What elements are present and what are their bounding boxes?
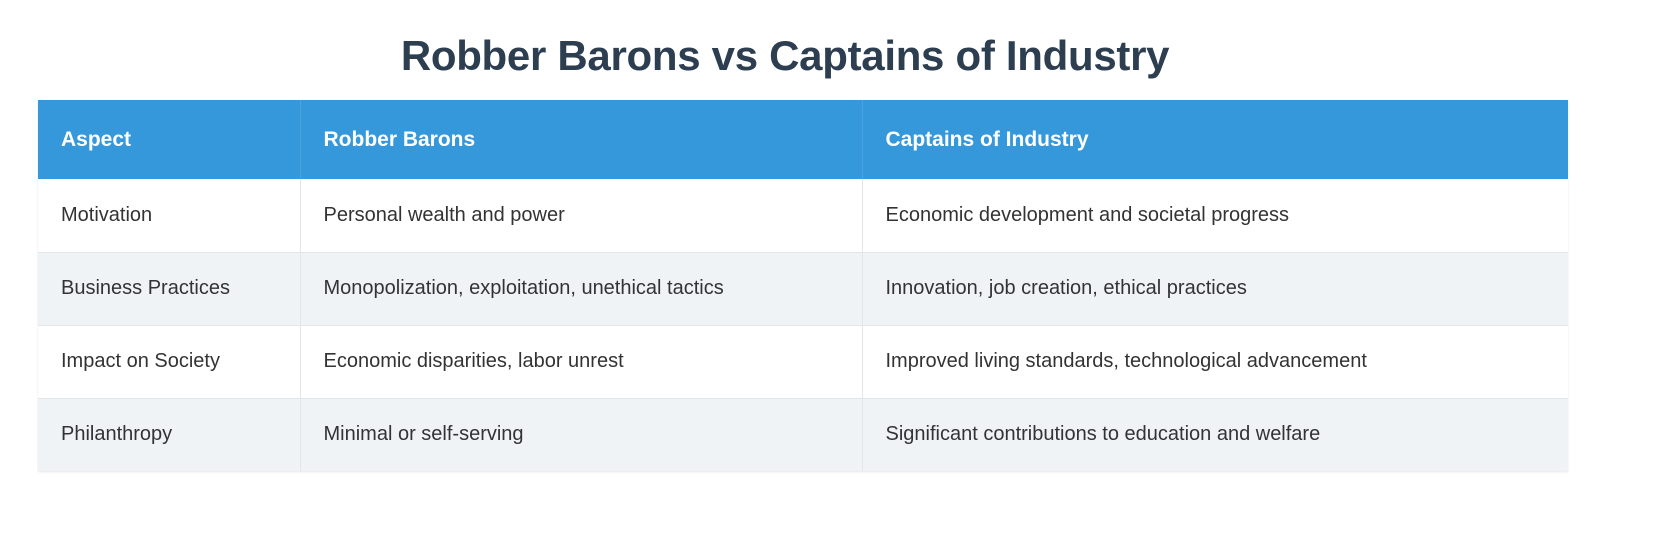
- cell-captains-of-industry: Significant contributions to education a…: [862, 398, 1568, 471]
- table-row: Motivation Personal wealth and power Eco…: [38, 179, 1568, 252]
- cell-captains-of-industry: Improved living standards, technological…: [862, 325, 1568, 398]
- table-row: Business Practices Monopolization, explo…: [38, 252, 1568, 325]
- column-header-robber-barons: Robber Barons: [300, 100, 862, 179]
- comparison-table: Aspect Robber Barons Captains of Industr…: [38, 100, 1568, 471]
- table-row: Philanthropy Minimal or self-serving Sig…: [38, 398, 1568, 471]
- comparison-table-container: Aspect Robber Barons Captains of Industr…: [38, 100, 1568, 471]
- table-body: Motivation Personal wealth and power Eco…: [38, 179, 1568, 471]
- cell-robber-barons: Economic disparities, labor unrest: [300, 325, 862, 398]
- column-header-aspect: Aspect: [38, 100, 300, 179]
- cell-robber-barons: Personal wealth and power: [300, 179, 862, 252]
- page-root: Robber Barons vs Captains of Industry As…: [0, 0, 1680, 548]
- table-header-row: Aspect Robber Barons Captains of Industr…: [38, 100, 1568, 179]
- table-header: Aspect Robber Barons Captains of Industr…: [38, 100, 1568, 179]
- cell-aspect: Philanthropy: [38, 398, 300, 471]
- column-header-captains-of-industry: Captains of Industry: [862, 100, 1568, 179]
- cell-aspect: Motivation: [38, 179, 300, 252]
- cell-robber-barons: Minimal or self-serving: [300, 398, 862, 471]
- cell-captains-of-industry: Economic development and societal progre…: [862, 179, 1568, 252]
- page-title: Robber Barons vs Captains of Industry: [0, 31, 1570, 81]
- table-row: Impact on Society Economic disparities, …: [38, 325, 1568, 398]
- cell-aspect: Business Practices: [38, 252, 300, 325]
- cell-robber-barons: Monopolization, exploitation, unethical …: [300, 252, 862, 325]
- cell-aspect: Impact on Society: [38, 325, 300, 398]
- cell-captains-of-industry: Innovation, job creation, ethical practi…: [862, 252, 1568, 325]
